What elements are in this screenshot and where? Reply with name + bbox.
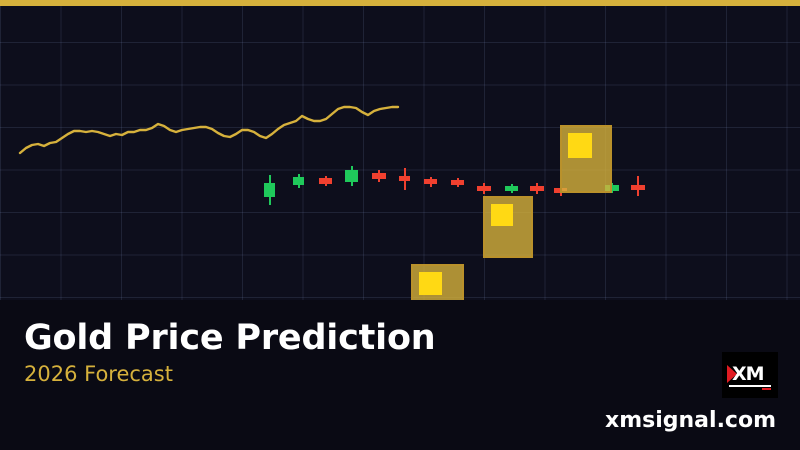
candlestick-body [399, 176, 410, 181]
candlestick-bullish [345, 166, 358, 186]
candlestick-bullish [293, 174, 304, 188]
candlestick-bearish [372, 170, 386, 182]
candlestick-bullish [264, 175, 275, 205]
candlestick-bearish [451, 178, 464, 187]
forecast-zone-marker [491, 204, 513, 226]
forecast-zone-box [560, 125, 612, 193]
candlestick-bearish [424, 177, 437, 187]
candlestick-bearish [530, 183, 544, 194]
site-watermark: xmsignal.com [605, 408, 776, 433]
forecast-zone-box [483, 196, 533, 258]
xm-logo: XM [722, 352, 778, 398]
page-subtitle: 2026 Forecast [24, 362, 173, 386]
candlestick-body [319, 178, 332, 184]
candlestick-body [424, 179, 437, 184]
candlestick-bearish [477, 183, 491, 194]
page-title: Gold Price Prediction [24, 318, 436, 358]
candlestick-body [477, 186, 491, 191]
candlestick-body [345, 170, 358, 182]
candlestick-body [505, 186, 518, 191]
candlestick-bullish [505, 184, 518, 193]
screenshot-root: Gold Price Prediction 2026 Forecast xmsi… [0, 0, 800, 450]
forecast-zone-box [411, 264, 464, 300]
candlestick-body [293, 177, 304, 185]
candlestick-body [372, 173, 386, 179]
chart-panel [0, 6, 800, 300]
candlestick-bearish [319, 176, 332, 186]
candlestick-body [451, 180, 464, 185]
xm-logo-inner: XM [722, 352, 778, 398]
xm-logo-text: XM [732, 363, 764, 385]
candlestick-bearish [631, 176, 645, 196]
candlestick-bearish [399, 168, 410, 190]
forecast-zone-marker [568, 133, 592, 158]
price-line-series [0, 6, 800, 300]
xm-logo-underline-accent [762, 388, 771, 390]
candlestick-body [631, 185, 645, 190]
candlestick-body [530, 186, 544, 191]
footer-banner: Gold Price Prediction 2026 Forecast xmsi… [0, 300, 800, 450]
gold-price-polyline [20, 107, 398, 153]
xm-logo-underline [729, 385, 771, 387]
candlestick-body [264, 183, 275, 197]
forecast-zone-marker [419, 272, 442, 295]
